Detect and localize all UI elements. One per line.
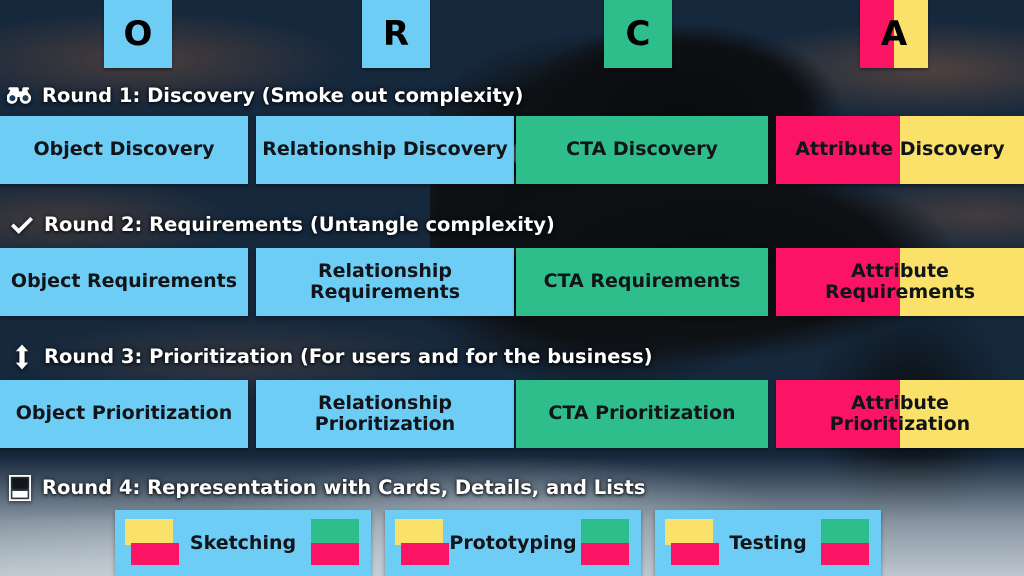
testing-chip-left	[665, 519, 719, 567]
bar-cta-requirements-label: CTA Requirements	[538, 271, 747, 292]
bar-relationship-prioritization[interactable]: Relationship Prioritization	[256, 380, 514, 448]
bar-attribute-discovery[interactable]: Attribute Discovery	[776, 116, 1024, 184]
bar-cta-prioritization-label: CTA Prioritization	[542, 403, 741, 424]
sketching-chip-left-pink	[131, 543, 179, 565]
bar-sketching-label: Sketching	[179, 532, 307, 554]
binoculars-icon	[6, 84, 34, 108]
slide-content: O R C A Round 1: Discovery (Smoke out co…	[0, 0, 1024, 576]
prototyping-chip-left	[395, 519, 449, 567]
round-3-heading-text: Round 3: Prioritization (For users and f…	[44, 347, 653, 367]
round-1-heading: Round 1: Discovery (Smoke out complexity…	[6, 84, 523, 108]
sketching-chip-left-yellow	[125, 519, 173, 545]
bar-attribute-requirements[interactable]: Attribute Requirements	[776, 248, 1024, 316]
prototyping-chip-right-pink	[581, 543, 629, 565]
bar-cta-discovery[interactable]: CTA Discovery	[516, 116, 768, 184]
round-2-heading-text: Round 2: Requirements (Untangle complexi…	[44, 215, 555, 235]
bar-object-discovery-label: Object Discovery	[27, 139, 220, 160]
bar-relationship-discovery-label: Relationship Discovery	[256, 139, 514, 160]
sketching-chip-left	[125, 519, 179, 567]
letter-badge-r: R	[362, 0, 430, 68]
letter-badge-o: O	[104, 0, 172, 68]
bar-relationship-requirements[interactable]: Relationship Requirements	[256, 248, 514, 316]
bar-cta-discovery-label: CTA Discovery	[560, 139, 724, 160]
bar-object-prioritization-label: Object Prioritization	[10, 403, 239, 424]
bar-attribute-prioritization[interactable]: Attribute Prioritization	[776, 380, 1024, 448]
bar-testing-label: Testing	[719, 532, 817, 554]
letter-badge-a-text: A	[881, 17, 907, 51]
testing-chip-left-pink	[671, 543, 719, 565]
up-down-arrow-icon	[8, 345, 36, 369]
round-1-heading-text: Round 1: Discovery (Smoke out complexity…	[42, 86, 523, 106]
bar-cta-requirements[interactable]: CTA Requirements	[516, 248, 768, 316]
bar-object-requirements-label: Object Requirements	[5, 271, 243, 292]
sketching-chip-right-green	[311, 519, 359, 545]
testing-chip-right-green	[821, 519, 869, 545]
sketching-chip-right-pink	[311, 543, 359, 565]
bar-relationship-requirements-label: Relationship Requirements	[291, 261, 479, 304]
letter-badge-c-text: C	[626, 17, 651, 51]
testing-chip-right	[817, 519, 871, 567]
bar-relationship-discovery[interactable]: Relationship Discovery	[256, 116, 514, 184]
bar-relationship-prioritization-label: Relationship Prioritization	[294, 393, 476, 436]
round-2-heading: Round 2: Requirements (Untangle complexi…	[8, 213, 555, 237]
check-icon	[8, 213, 36, 237]
round-4-heading-text: Round 4: Representation with Cards, Deta…	[42, 478, 645, 498]
bar-prototyping[interactable]: Prototyping	[385, 510, 641, 576]
bar-object-prioritization[interactable]: Object Prioritization	[0, 380, 248, 448]
testing-chip-left-yellow	[665, 519, 713, 545]
letter-badge-a: A	[860, 0, 928, 68]
bar-prototyping-label: Prototyping	[449, 532, 577, 554]
bar-object-requirements[interactable]: Object Requirements	[0, 248, 248, 316]
letter-badge-c: C	[604, 0, 672, 68]
bar-sketching[interactable]: Sketching	[115, 510, 371, 576]
prototyping-chip-left-pink	[401, 543, 449, 565]
sketching-chip-right	[307, 519, 361, 567]
bar-attribute-discovery-label: Attribute Discovery	[789, 139, 1010, 160]
card-layout-icon	[6, 476, 34, 500]
testing-chip-right-pink	[821, 543, 869, 565]
bar-object-discovery[interactable]: Object Discovery	[0, 116, 248, 184]
prototyping-chip-right	[577, 519, 631, 567]
bar-cta-prioritization[interactable]: CTA Prioritization	[516, 380, 768, 448]
bar-testing[interactable]: Testing	[655, 510, 881, 576]
prototyping-chip-right-green	[581, 519, 629, 545]
bar-attribute-requirements-label: Attribute Requirements	[819, 261, 981, 304]
letter-badge-r-text: R	[383, 17, 409, 51]
round-3-heading: Round 3: Prioritization (For users and f…	[8, 345, 653, 369]
letter-badge-o-text: O	[124, 17, 153, 51]
prototyping-chip-left-yellow	[395, 519, 443, 545]
bar-attribute-prioritization-label: Attribute Prioritization	[819, 393, 981, 436]
round-4-heading: Round 4: Representation with Cards, Deta…	[6, 476, 645, 500]
